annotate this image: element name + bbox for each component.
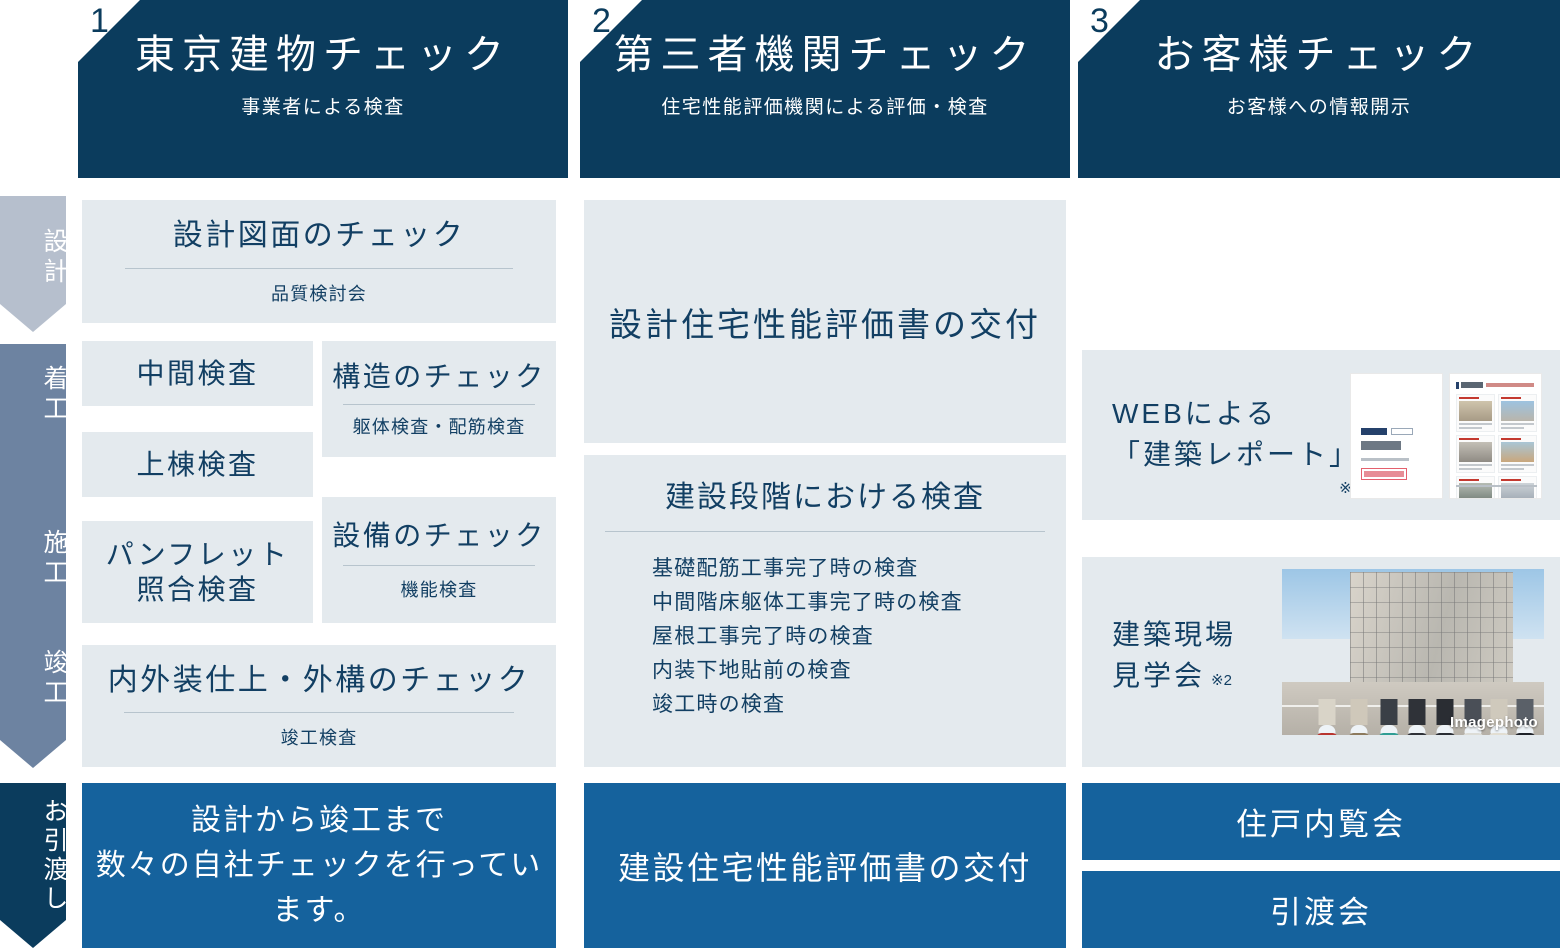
phase-band-construction: 着工 施工 竣工 [0,344,66,768]
divider [124,712,514,713]
column-subtitle-3: お客様への情報開示 [1078,92,1560,119]
photo-watermark: Imagephoto [1450,714,1538,731]
card-title: 内外装仕上・外構のチェック [108,662,531,700]
card-design-drawing-check: 設計図面のチェック 品質検討会 [82,200,556,323]
card-subtitle: 竣工検査 [281,724,358,750]
site-tour-line1: 建築現場 [1112,615,1236,656]
card-interim-inspection: 中間検査 [82,341,313,406]
site-tour-note: ※2 [1211,672,1232,689]
divider [343,404,535,405]
phase-label-build: 施工 [0,522,66,596]
divider [605,531,1045,532]
report-photo-cell [1498,435,1537,473]
list-item: 内装下地貼前の検査 [652,654,1066,688]
report-cover-page [1350,373,1443,499]
card-subtitle: 品質検討会 [271,280,367,306]
column-subtitle-1: 事業者による検査 [78,92,568,119]
phase-label-start: 着工 [0,358,66,432]
list-item: 中間階床躯体工事完了時の検査 [652,586,1066,620]
construction-site-photo: Imagephoto [1282,569,1544,735]
footer-text: 設計から竣工まで 数々の自社チェックを行っています。 [82,798,556,933]
card-subtitle: 躯体検査・配筋検査 [353,413,526,439]
card-design-performance-certificate: 設計住宅性能評価書の交付 [584,200,1066,443]
report-photo-cell [1498,476,1537,499]
footer-card-col3-preview: 住戸内覧会 [1082,783,1560,860]
card-title: 設計図面のチェック [173,217,466,255]
site-tour-line2-text: 見学会 [1112,660,1205,691]
footer-card-col1: 設計から竣工まで 数々の自社チェックを行っています。 [82,783,556,948]
footer-card-col3-handover: 引渡会 [1082,871,1560,948]
site-tour-line2: 見学会※2 [1112,656,1236,697]
list-item: 竣工時の検査 [652,688,1066,722]
column-header-2: 2 第三者機関チェック 住宅性能評価機関による評価・検査 [580,0,1070,178]
card-pamphlet-check: パンフレット 照合検査 [82,521,313,623]
column-number-2: 2 [592,4,611,38]
web-report-line2: 「建築レポート」 [1112,435,1360,476]
web-report-line1: WEBによる [1112,394,1360,435]
card-construction-stage-inspection: 建設段階における検査 基礎配筋工事完了時の検査 中間階床躯体工事完了時の検査 屋… [584,455,1066,767]
card-equipment-check: 設備のチェック 機能検査 [322,497,556,623]
card-web-report: WEBによる 「建築レポート」 ※1 [1082,350,1560,520]
column-number-3: 3 [1090,4,1109,38]
column-title-2: 第三者機関チェック [580,30,1070,80]
phase-band-handover: お引渡し [0,783,66,948]
column-header-1: 1 東京建物チェック 事業者による検査 [78,0,568,178]
report-photo-cell [1456,435,1495,473]
column-subtitle-2: 住宅性能評価機関による評価・検査 [580,92,1070,119]
report-thumbnail-group [1350,373,1542,499]
tour-participants [1282,639,1544,725]
phase-band-design: 設計 [0,196,66,332]
footer-text: 建設住宅性能評価書の交付 [618,843,1032,889]
card-structure-check: 構造のチェック 躯体検査・配筋検査 [322,341,556,457]
card-title: 設計住宅性能評価書の交付 [609,298,1041,346]
column-title-3: お客様チェック [1078,30,1560,80]
footer-card-col2: 建設住宅性能評価書の交付 [584,783,1066,948]
report-inner-page [1449,373,1542,499]
phase-label-completion: 竣工 [0,642,66,716]
card-site-tour: 建築現場 見学会※2 Imagephoto [1082,557,1560,767]
card-finish-exterior-check: 内外装仕上・外構のチェック 竣工検査 [82,645,556,767]
web-report-note: ※1 [1112,479,1360,497]
divider [125,268,513,269]
list-item: 屋根工事完了時の検査 [652,620,1066,654]
divider [343,565,535,566]
card-subtitle: 機能検査 [401,576,478,602]
report-photo-cell [1498,394,1537,432]
card-title: 構造のチェック [332,359,546,394]
card-title: 建設段階における検査 [665,479,985,517]
column-header-3: 3 お客様チェック お客様への情報開示 [1078,0,1560,178]
column-number-1: 1 [90,4,109,38]
column-title-1: 東京建物チェック [78,30,568,80]
inspection-item-list: 基礎配筋工事完了時の検査 中間階床躯体工事完了時の検査 屋根工事完了時の検査 内… [584,552,1066,722]
card-title: 上棟検査 [136,447,258,482]
footer-text: 住戸内覧会 [1236,799,1406,844]
list-item: 基礎配筋工事完了時の検査 [652,552,1066,586]
card-title: 中間検査 [136,356,258,391]
card-title: パンフレット 照合検査 [106,537,290,607]
card-framing-inspection: 上棟検査 [82,432,313,497]
footer-text: 引渡会 [1270,887,1372,932]
card-title: 設備のチェック [332,518,546,553]
phase-label-handover: お引渡し [0,793,66,919]
report-photo-cell [1456,476,1495,499]
quality-check-diagram: 1 東京建物チェック 事業者による検査 2 第三者機関チェック 住宅性能評価機関… [0,0,1560,948]
phase-label-design: 設計 [0,218,66,298]
report-photo-cell [1456,394,1495,432]
